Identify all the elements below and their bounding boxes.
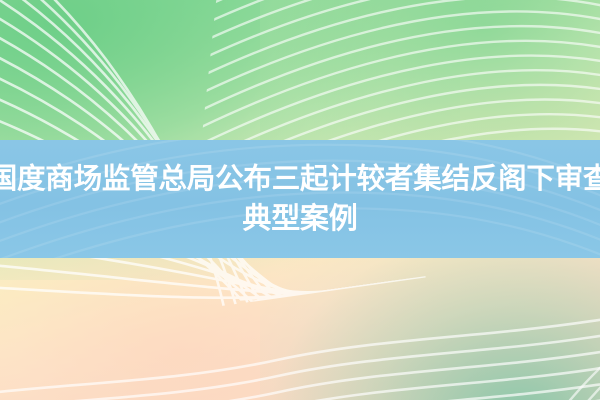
page-title: 国度商场监管总局公布三起计较者集结反阁下审查 典型案例 (0, 140, 600, 258)
page-title-line-1: 国度商场监管总局公布三起计较者集结反阁下审查 (0, 159, 600, 199)
page-title-line-2: 典型案例 (242, 199, 357, 239)
banner: 国度商场监管总局公布三起计较者集结反阁下审查 典型案例 (0, 0, 600, 400)
